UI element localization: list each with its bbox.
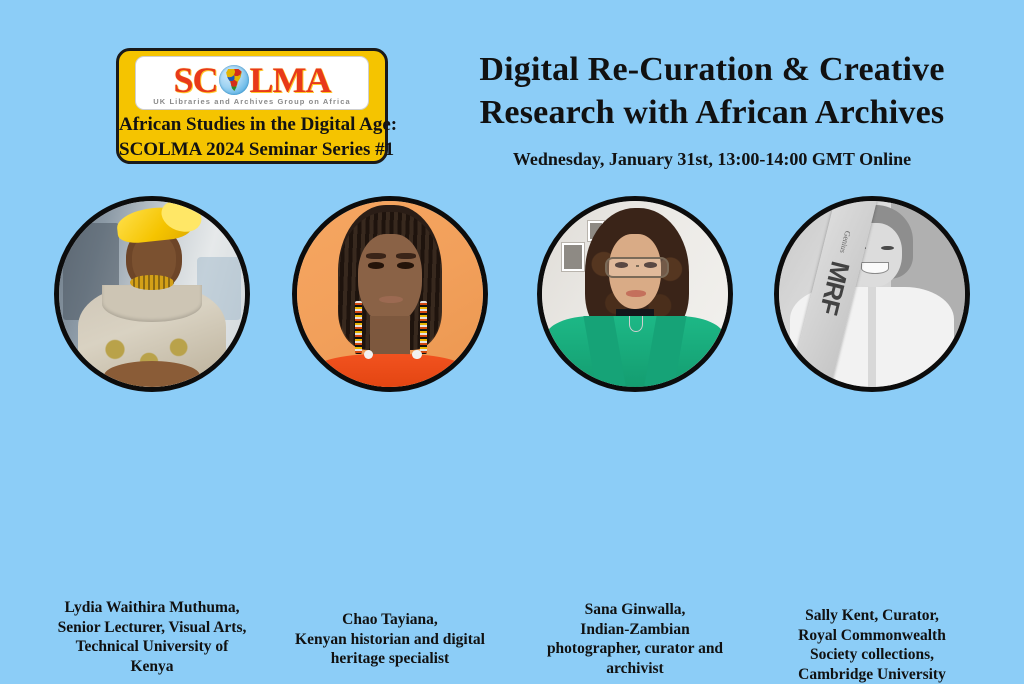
globe-africa-icon [219, 65, 249, 95]
speaker-caption-3: Sana Ginwalla, Indian-Zambian photograph… [515, 600, 755, 678]
page-title-line1: Digital Re-Curation & Creative [414, 48, 1010, 91]
logo-letter-l: L [250, 63, 273, 97]
speaker-card-2: Chao Tayiana, Kenyan historian and digit… [270, 196, 510, 392]
logo-letter-s: S [173, 63, 192, 97]
scolma-logo: S C L M A UK Libraries and Archives Grou… [135, 56, 369, 110]
speaker-role-1-line3: Kenya [32, 657, 272, 677]
speaker-caption-1: Lydia Waithira Muthuma, Senior Lecturer,… [32, 598, 272, 676]
speaker-role-3-line2: photographer, curator and [515, 639, 755, 659]
badge-series-title: African Studies in the Digital Age: [119, 114, 385, 136]
speaker-caption-4: Sally Kent, Curator, Royal Commonwealth … [752, 606, 992, 684]
speaker-role-4-line1: Royal Commonwealth [752, 626, 992, 646]
speaker-role-4-line3: Cambridge University [752, 665, 992, 684]
speaker-role-4-line2: Society collections, [752, 645, 992, 665]
page-title: Digital Re-Curation & Creative Research … [414, 48, 1010, 134]
badge-series-subtitle: SCOLMA 2024 Seminar Series #1 [119, 139, 385, 161]
scolma-logo-wordmark: S C L M A [173, 62, 330, 98]
speaker-caption-2: Chao Tayiana, Kenyan historian and digit… [270, 610, 510, 669]
speaker-photo-1 [54, 196, 250, 392]
speaker-name-1: Lydia Waithira Muthuma, [32, 598, 272, 618]
logo-letter-c: C [193, 63, 218, 97]
page-title-line2: Research with African Archives [414, 91, 1010, 134]
speaker-role-3-line3: archivist [515, 659, 755, 679]
poster-canvas: S C L M A UK Libraries and Archives Grou… [0, 0, 1024, 512]
logo-tagline: UK Libraries and Archives Group on Afric… [153, 97, 351, 106]
speaker-role-2-line1: Kenyan historian and digital [270, 630, 510, 650]
event-datetime: Wednesday, January 31st, 13:00-14:00 GMT… [414, 148, 1010, 170]
speaker-role-2-line2: heritage specialist [270, 649, 510, 669]
speaker-role-1-line2: Technical University of [32, 637, 272, 657]
speaker-card-4: Genius MRF Sally Kent, Curator, Royal Co… [752, 196, 992, 392]
speaker-name-4: Sally Kent, Curator, [752, 606, 992, 626]
speaker-photo-3 [537, 196, 733, 392]
logo-letter-a: A [306, 63, 331, 97]
speaker-name-2: Chao Tayiana, [270, 610, 510, 630]
speaker-card-1: Lydia Waithira Muthuma, Senior Lecturer,… [32, 196, 272, 392]
speaker-photo-2 [292, 196, 488, 392]
scolma-badge: S C L M A UK Libraries and Archives Grou… [116, 48, 388, 164]
cricket-bat-model: Genius [837, 224, 854, 260]
speaker-role-3-line1: Indian-Zambian [515, 620, 755, 640]
speaker-role-1-line1: Senior Lecturer, Visual Arts, [32, 618, 272, 638]
logo-letter-m: M [273, 63, 306, 97]
speaker-card-3: Sana Ginwalla, Indian-Zambian photograph… [515, 196, 755, 392]
speaker-photo-4: Genius MRF [774, 196, 970, 392]
speaker-name-3: Sana Ginwalla, [515, 600, 755, 620]
